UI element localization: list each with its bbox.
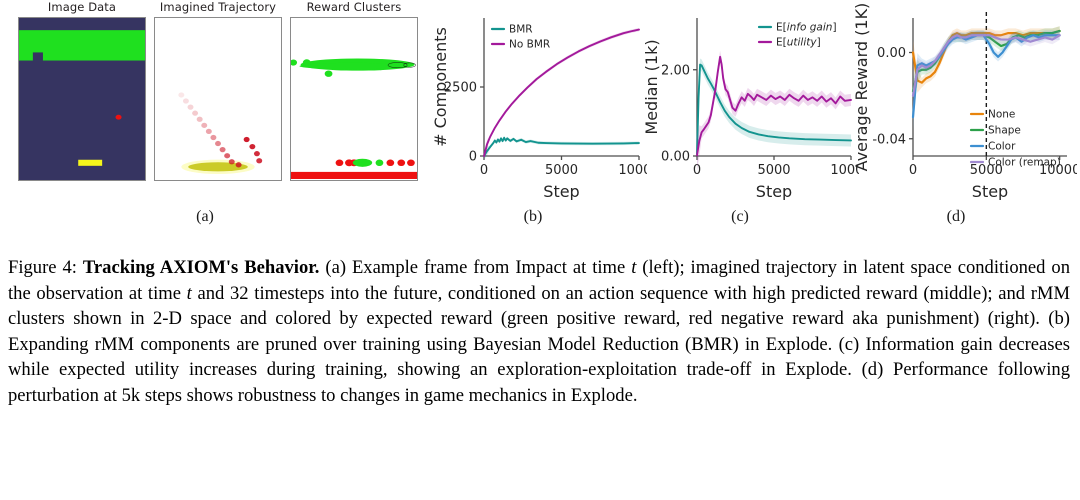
- panel-b: 050001000002500Step# ComponentsBMRNo BMR: [432, 2, 647, 200]
- svg-text:5000: 5000: [545, 163, 578, 178]
- svg-text:Average Reward (1K): Average Reward (1K): [852, 3, 871, 172]
- figure-number: Figure 4:: [8, 257, 77, 278]
- sublabel-c: (c): [720, 208, 760, 226]
- figure-caption: Figure 4: Tracking AXIOM's Behavior. (a)…: [8, 255, 1070, 409]
- svg-text:No BMR: No BMR: [509, 39, 550, 51]
- imagined-trajectory-box: [154, 17, 282, 181]
- svg-text:E[utility]: E[utility]: [776, 37, 821, 49]
- panel-a-title-reward-clusters: Reward Clusters: [290, 0, 418, 14]
- figure-panels-row: Image Data Imagined Trajectory: [0, 0, 1080, 200]
- reward-clusters-box: [290, 17, 418, 181]
- panel-c-chart: 05000100000.002.00StepMedian (1k)E[info …: [641, 2, 859, 200]
- svg-text:Shape: Shape: [988, 125, 1021, 137]
- svg-text:0.00: 0.00: [877, 46, 906, 61]
- figure-bold-title: Tracking AXIOM's Behavior.: [83, 257, 320, 278]
- panel-d-chart: 05000100000.00-0.04StepAverage Reward (1…: [851, 2, 1077, 200]
- panel-a-imagined-trajectory: Imagined Trajectory: [154, 0, 282, 181]
- sublabel-d: (d): [936, 208, 976, 226]
- svg-text:Color: Color: [988, 141, 1016, 153]
- svg-text:None: None: [988, 109, 1015, 121]
- sublabel-a: (a): [185, 208, 225, 226]
- reward-clusters-svg: [291, 18, 417, 180]
- svg-text:0.00: 0.00: [661, 150, 690, 165]
- panel-a-reward-clusters: Reward Clusters: [290, 0, 418, 181]
- svg-text:0: 0: [480, 163, 488, 178]
- svg-text:2.00: 2.00: [661, 63, 690, 78]
- panel-a-title-imagined-trajectory: Imagined Trajectory: [154, 0, 282, 14]
- panel-a-image-data: Image Data: [18, 0, 146, 181]
- svg-text:0: 0: [909, 163, 917, 178]
- svg-text:BMR: BMR: [509, 24, 533, 36]
- svg-text:Step: Step: [543, 182, 579, 200]
- panel-a-title-image-data: Image Data: [18, 0, 146, 14]
- svg-text:# Components: # Components: [432, 27, 450, 147]
- svg-text:-0.04: -0.04: [872, 132, 906, 147]
- imagined-trajectory-svg: [155, 18, 281, 180]
- figure-root: Image Data Imagined Trajectory: [0, 0, 1080, 500]
- svg-text:Median (1k): Median (1k): [642, 39, 661, 134]
- svg-text:Step: Step: [756, 182, 792, 200]
- svg-text:0: 0: [469, 150, 477, 165]
- game-frame: [18, 17, 146, 181]
- svg-text:5000: 5000: [757, 163, 790, 178]
- svg-text:Color (remap): Color (remap): [988, 157, 1061, 169]
- sublabel-b: (b): [513, 208, 553, 226]
- svg-text:Step: Step: [972, 182, 1008, 200]
- panel-a: Image Data Imagined Trajectory: [18, 0, 418, 181]
- caption-part-1: (a) Example frame from Impact at time: [319, 257, 631, 278]
- svg-text:E[info gain]: E[info gain]: [776, 22, 837, 34]
- panel-c: 05000100000.002.00StepMedian (1k)E[info …: [641, 2, 859, 200]
- panel-d: 05000100000.00-0.04StepAverage Reward (1…: [851, 2, 1077, 200]
- game-frame-svg: [19, 18, 145, 180]
- panel-b-chart: 050001000002500Step# ComponentsBMRNo BMR: [432, 2, 647, 200]
